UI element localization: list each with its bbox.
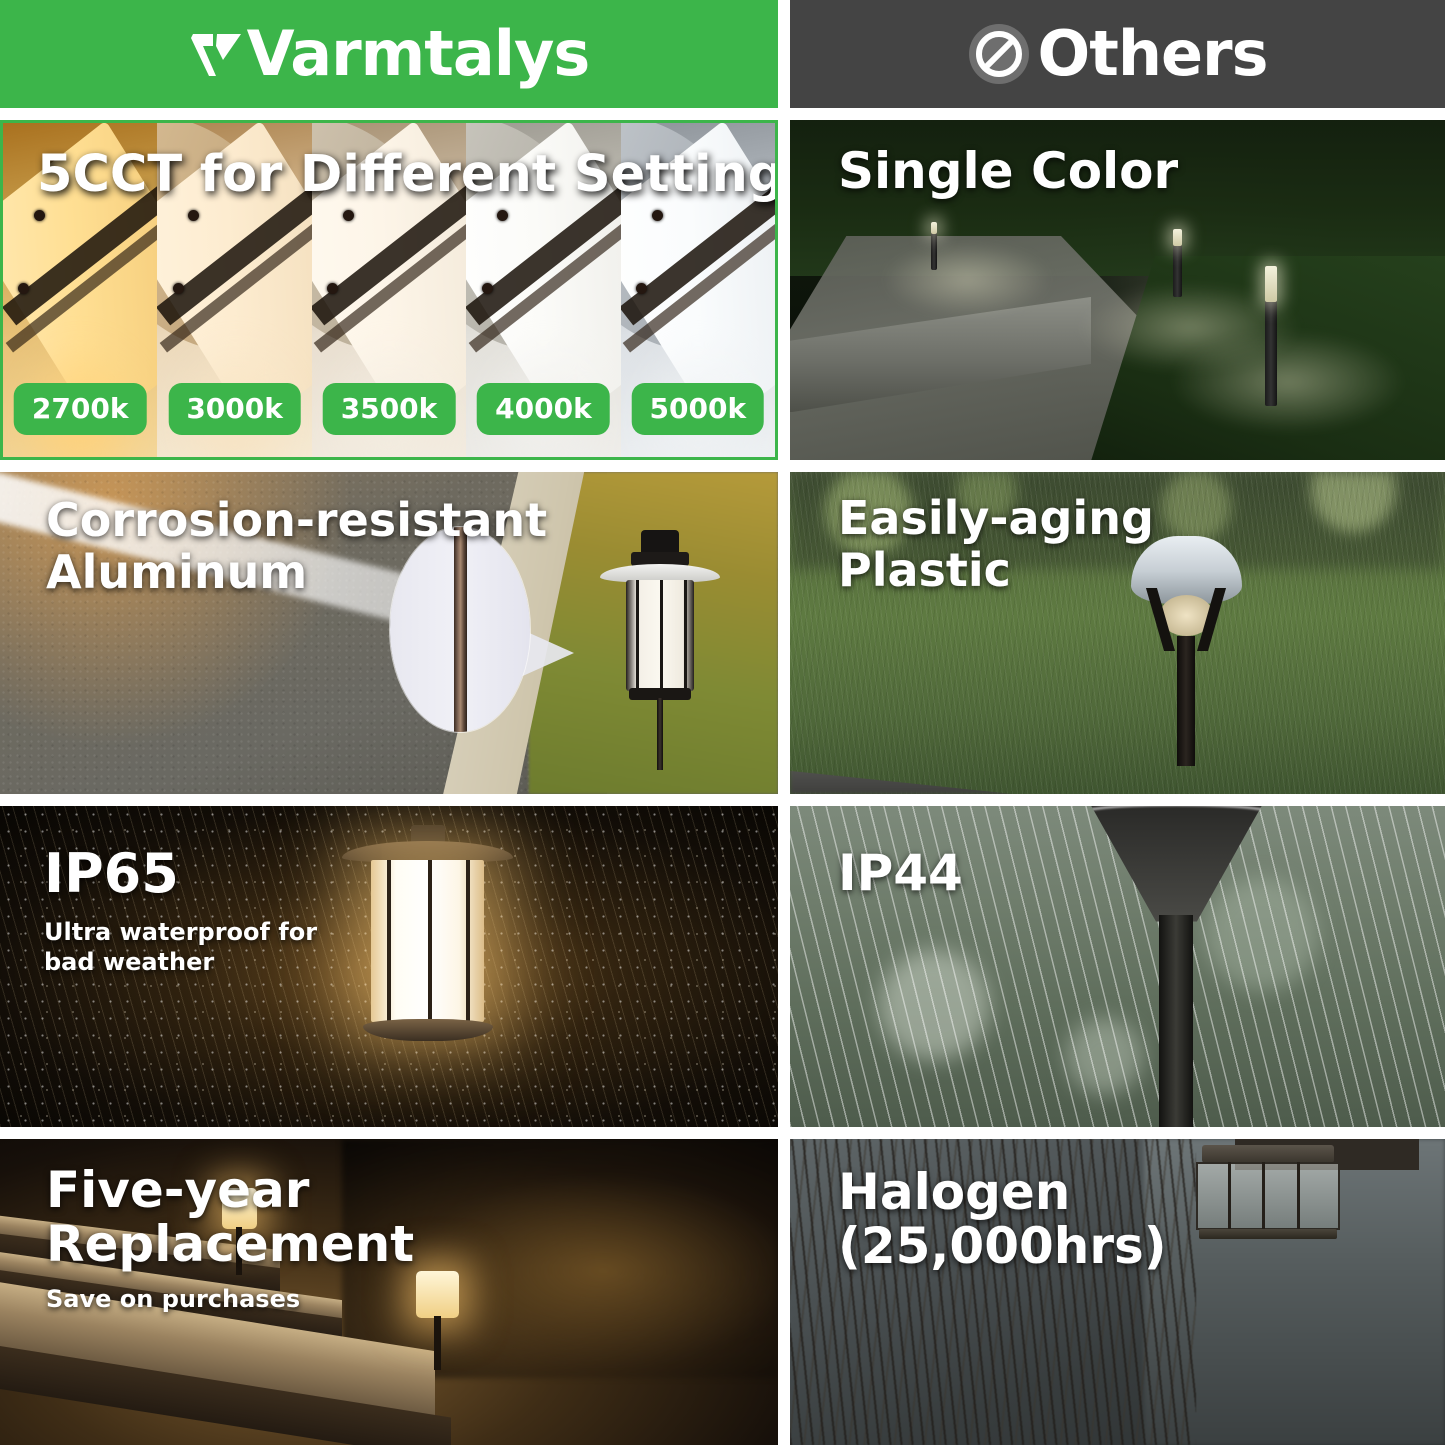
cct-badge[interactable]: 2700k	[14, 383, 147, 435]
bollard-lit-head	[931, 222, 937, 234]
pathway-light-product	[600, 530, 720, 770]
cct-title: 5CCT for Different Settings	[37, 145, 778, 204]
halogen-title-line2: (25,000hrs)	[838, 1221, 1167, 1273]
panel-ip65: IP65 Ultra waterproof for bad weather	[0, 806, 778, 1127]
fixture-screw	[34, 210, 45, 221]
lamp-foot	[363, 1019, 493, 1041]
row-gutter	[778, 472, 790, 794]
mushroom-stem	[1177, 636, 1195, 767]
cct-badge[interactable]: 5000k	[632, 383, 765, 435]
panel-aluminum: Corrosion-resistant Aluminum	[0, 472, 778, 794]
light-rib	[684, 580, 687, 690]
comparison-infographic: Varmtalys Others 5CCT for Different Sett…	[0, 0, 1445, 1445]
aluminum-pole-closeup	[454, 527, 467, 732]
halogen-fixture	[1196, 1145, 1340, 1255]
v-checkmark-logo-icon	[189, 26, 245, 82]
bollard-lit-head	[1265, 266, 1277, 302]
bollard-lit-head	[1173, 229, 1182, 247]
light-rib	[636, 580, 639, 690]
ip65-subtitle-line2: bad weather	[44, 948, 214, 977]
light-stem	[1159, 915, 1193, 1127]
fixture-bottom	[1199, 1229, 1337, 1239]
magnifier-circle	[390, 527, 530, 732]
bollard-light	[1265, 266, 1277, 405]
cct-badge[interactable]: 3000k	[168, 383, 301, 435]
step-light-pole	[434, 1316, 441, 1371]
ip44-title: IP44	[838, 848, 963, 900]
fixture-top	[1202, 1145, 1335, 1163]
halogen-title-line1: Halogen	[838, 1167, 1070, 1219]
row-gutter	[778, 120, 790, 460]
panel-warranty: Five-year Replacement Save on purchases	[0, 1139, 778, 1445]
row-gutter	[778, 806, 790, 1127]
row-gutter	[778, 1139, 790, 1445]
panel-ip44: IP44	[790, 806, 1445, 1127]
light-stake	[657, 698, 663, 770]
fixture-screw	[497, 210, 508, 221]
panel-halogen: Halogen (25,000hrs)	[790, 1139, 1445, 1445]
bollard-light	[931, 222, 937, 270]
lamp-bar	[428, 860, 432, 1022]
ip65-subtitle-line1: Ultra waterproof for	[44, 918, 317, 947]
brand-header: Varmtalys	[0, 0, 778, 108]
step-light	[416, 1271, 459, 1369]
others-label: Others	[1037, 23, 1267, 85]
light-bell	[1091, 806, 1261, 922]
panel-single-color: Single Color	[790, 120, 1445, 460]
ip44-light	[1091, 806, 1261, 1127]
warranty-subtitle: Save on purchases	[46, 1285, 300, 1314]
plastic-mushroom-light	[1131, 536, 1242, 761]
prohibition-ban-icon	[967, 22, 1031, 86]
plastic-title-line1: Easily-aging	[838, 494, 1154, 543]
warranty-title-line2: Replacement	[46, 1219, 414, 1271]
ip65-title: IP65	[44, 846, 179, 902]
lamp-bar	[387, 860, 391, 1022]
header-gutter	[778, 0, 790, 108]
cct-badge[interactable]: 4000k	[477, 383, 610, 435]
fixture-cage	[1196, 1162, 1340, 1230]
cage-bar	[1297, 1162, 1300, 1230]
aluminum-title-line2: Aluminum	[46, 548, 307, 597]
panel-plastic: Easily-aging Plastic	[790, 472, 1445, 794]
aluminum-title-line1: Corrosion-resistant	[46, 496, 547, 545]
others-lockup: Others	[967, 22, 1267, 86]
brand-name: Varmtalys	[247, 23, 590, 85]
fixture-screw	[482, 283, 493, 294]
light-pool	[882, 242, 1052, 317]
light-rib	[660, 580, 663, 690]
step-light-lamp	[416, 1271, 459, 1318]
ip65-lamp	[342, 825, 513, 1095]
fixture-screw	[652, 210, 663, 221]
light-pool	[1170, 331, 1406, 433]
cage-bar	[1228, 1162, 1231, 1230]
bollard-light	[1173, 229, 1182, 297]
panel-cct: 5CCT for Different Settings 2700k	[0, 120, 778, 460]
light-cap-top	[641, 530, 679, 554]
warranty-title-line1: Five-year	[46, 1165, 309, 1217]
others-header: Others	[790, 0, 1445, 108]
fixture-screw	[343, 210, 354, 221]
wet-rim	[1085, 806, 1269, 818]
single-color-title: Single Color	[838, 146, 1178, 198]
brand-lockup: Varmtalys	[189, 23, 590, 85]
lamp-bar	[466, 860, 470, 1022]
cage-bar	[1262, 1162, 1265, 1230]
plastic-title-line2: Plastic	[838, 546, 1011, 595]
cct-badge[interactable]: 3500k	[323, 383, 456, 435]
